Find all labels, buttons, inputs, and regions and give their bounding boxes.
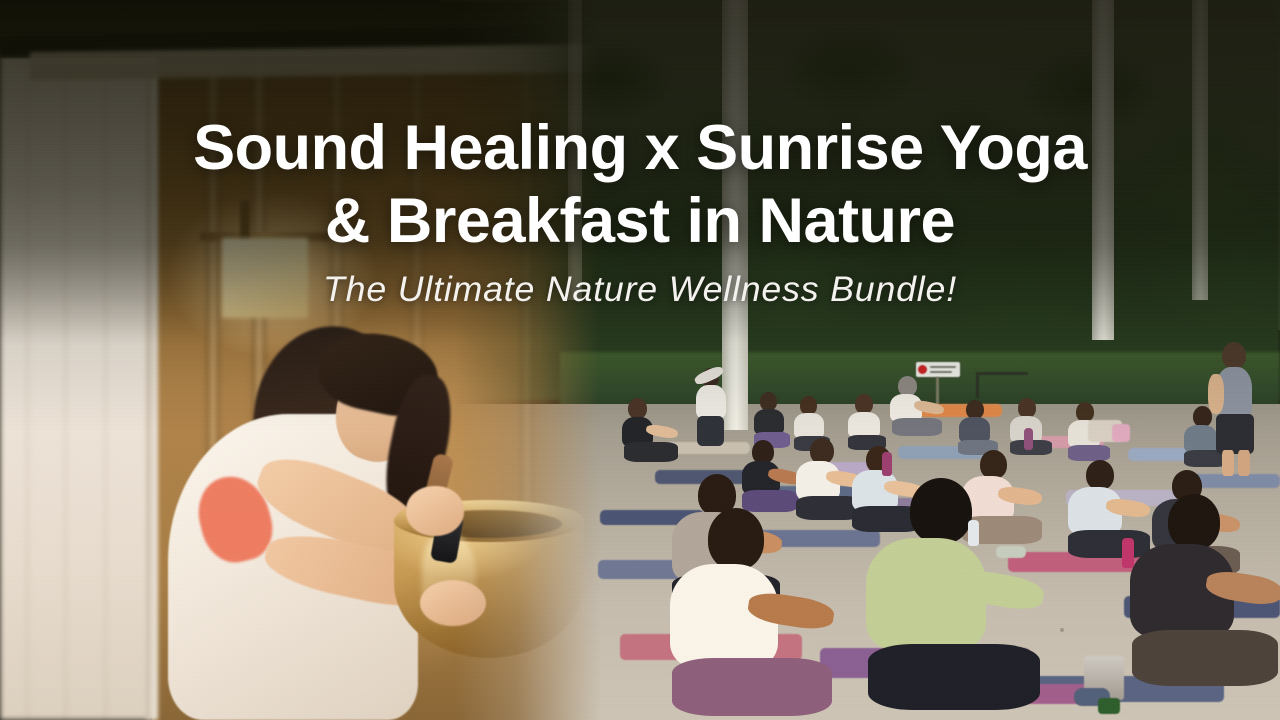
hand-upper bbox=[406, 486, 464, 536]
handrail bbox=[976, 372, 1028, 398]
hand-lower bbox=[420, 580, 486, 626]
participant bbox=[660, 508, 848, 720]
head bbox=[855, 394, 873, 414]
legs bbox=[892, 418, 942, 436]
legs bbox=[624, 442, 678, 462]
head bbox=[628, 398, 647, 419]
legs bbox=[1132, 630, 1278, 686]
head bbox=[1076, 402, 1094, 422]
participant bbox=[688, 368, 734, 446]
participant bbox=[952, 400, 1002, 456]
title-line-1: Sound Healing x Sunrise Yoga bbox=[0, 112, 1280, 185]
headline-block: Sound Healing x Sunrise Yoga & Breakfast… bbox=[0, 112, 1280, 310]
water-bottle bbox=[1024, 428, 1033, 450]
arm bbox=[1208, 374, 1224, 414]
shorts bbox=[1216, 414, 1254, 454]
participant bbox=[886, 376, 948, 438]
head bbox=[898, 376, 917, 396]
bottle-green bbox=[1098, 698, 1120, 714]
sign-emblem-icon bbox=[918, 365, 927, 374]
participant bbox=[858, 478, 1054, 720]
ground-speck bbox=[1060, 628, 1064, 632]
instructor bbox=[1206, 342, 1266, 476]
towel bbox=[996, 546, 1026, 558]
water-bottle bbox=[882, 452, 892, 476]
title-line-2: & Breakfast in Nature bbox=[0, 185, 1280, 258]
participant bbox=[612, 398, 682, 462]
legs bbox=[1068, 445, 1110, 461]
water-bottle bbox=[968, 520, 979, 546]
promo-banner: Sound Healing x Sunrise Yoga & Breakfast… bbox=[0, 0, 1280, 720]
head bbox=[980, 450, 1007, 479]
head bbox=[1086, 460, 1114, 490]
participant bbox=[1124, 494, 1280, 694]
head bbox=[910, 478, 972, 544]
legs bbox=[672, 658, 832, 716]
head bbox=[1018, 398, 1036, 418]
head bbox=[1168, 494, 1220, 550]
head bbox=[708, 508, 764, 570]
sound-healing-practitioner bbox=[168, 318, 588, 720]
bag bbox=[1112, 424, 1130, 442]
head bbox=[1222, 342, 1246, 369]
sign-text-line bbox=[930, 371, 952, 373]
water-bottle bbox=[1122, 538, 1134, 568]
sound-healing-scene bbox=[0, 0, 600, 720]
notice-sign bbox=[916, 362, 960, 377]
subtitle: The Ultimate Nature Wellness Bundle! bbox=[0, 270, 1280, 310]
torso bbox=[696, 385, 726, 419]
legs bbox=[697, 416, 724, 446]
sign-text-line bbox=[930, 366, 956, 368]
legs bbox=[868, 644, 1040, 710]
